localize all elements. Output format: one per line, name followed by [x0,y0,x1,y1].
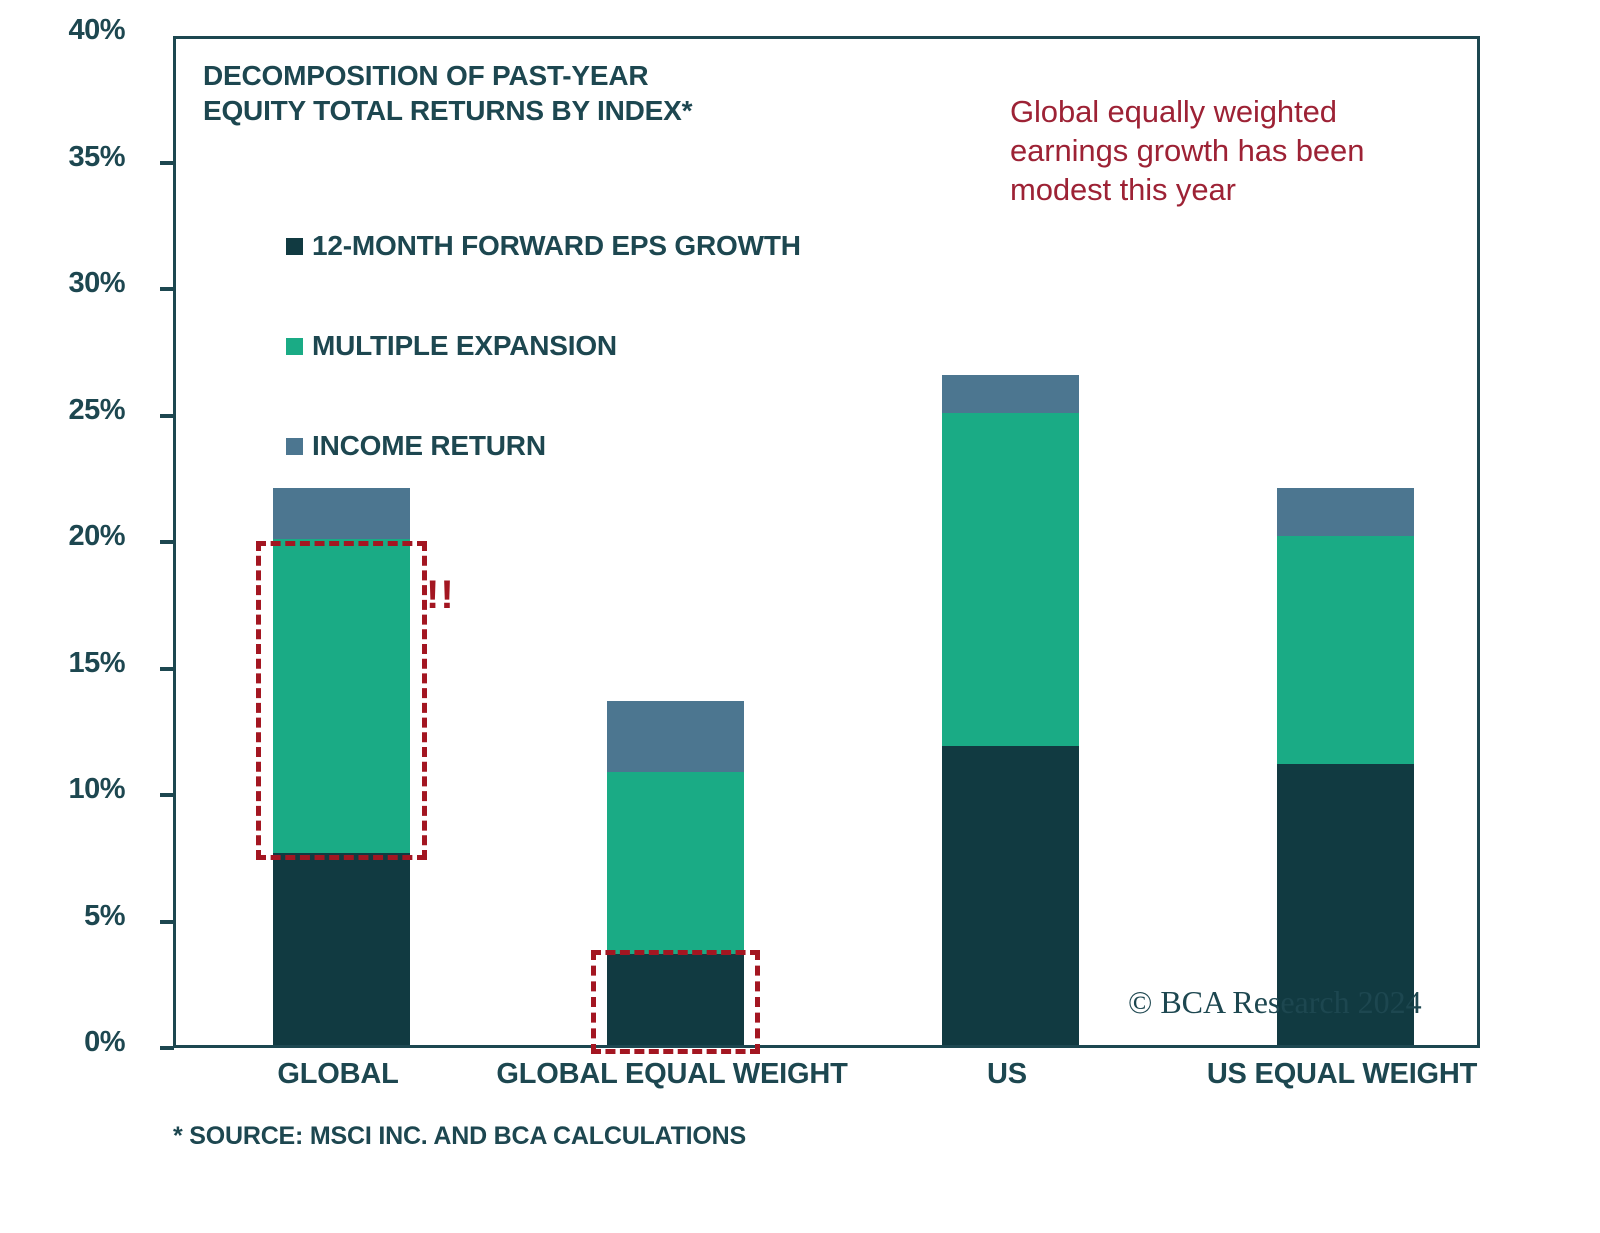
x-axis-label-global-equal-weight: GLOBAL EQUAL WEIGHT [496,1058,847,1091]
bar-global-equal-weight[interactable] [607,701,744,1045]
legend-item-income-return[interactable]: INCOME RETURN [286,396,801,496]
bar-segment-income-return[interactable] [273,488,410,539]
bar-segment-multiple-expansion[interactable] [942,413,1079,747]
legend-swatch-eps-growth [286,238,303,255]
chart-legend: 12-MONTH FORWARD EPS GROWTH MULTIPLE EXP… [286,196,801,496]
plot-area: DECOMPOSITION OF PAST-YEAR EQUITY TOTAL … [173,36,1480,1048]
y-axis-tick-label: 35% [68,141,125,174]
y-axis-tick-mark [160,1046,174,1050]
y-axis-tick-mark [160,920,174,924]
x-axis-label-us: US [987,1058,1027,1091]
bar-us[interactable] [942,375,1079,1045]
legend-swatch-income-return [286,438,303,455]
bar-segment-multiple-expansion[interactable] [1277,536,1414,764]
bar-segment-multiple-expansion[interactable] [607,772,744,954]
legend-item-eps-growth[interactable]: 12-MONTH FORWARD EPS GROWTH [286,196,801,296]
y-axis-tick-label: 0% [84,1026,125,1059]
y-axis-tick-mark [160,414,174,418]
y-axis-tick-label: 40% [68,14,125,47]
y-axis-tick-mark [160,287,174,291]
bar-global[interactable] [273,488,410,1045]
bar-segment-income-return[interactable] [607,701,744,772]
chart-canvas: 40%35%30%25%20%15%10%5%0% DECOMPOSITION … [0,0,1600,1233]
legend-label-income-return: INCOME RETURN [312,430,546,462]
legend-label-multiple-expansion: MULTIPLE EXPANSION [312,330,617,362]
copyright-watermark: © BCΑ Research 2024 [1128,984,1422,1021]
bar-segment-multiple-expansion[interactable] [273,539,410,853]
bar-segment-12-month-forward-eps-growth[interactable] [942,746,1079,1045]
bar-segment-income-return[interactable] [942,375,1079,413]
callout-line-3: modest this year [1010,170,1430,209]
callout-line-2: earnings growth has been [1010,131,1430,170]
y-axis-tick-label: 15% [68,647,125,680]
y-axis-tick-mark [160,667,174,671]
bar-segment-12-month-forward-eps-growth[interactable] [273,853,410,1045]
chart-title-line-1: DECOMPOSITION OF PAST-YEAR [203,59,692,94]
chart-title-line-2: EQUITY TOTAL RETURNS BY INDEX* [203,94,692,129]
y-axis-tick-label: 30% [68,267,125,300]
bar-us-equal-weight[interactable] [1277,488,1414,1045]
y-axis-tick-label: 25% [68,394,125,427]
x-axis-label-us-equal-weight: US EQUAL WEIGHT [1207,1058,1477,1091]
legend-swatch-multiple-expansion [286,338,303,355]
source-note: * SOURCE: MSCI INC. AND BCA CALCULATIONS [173,1122,746,1151]
bar-segment-12-month-forward-eps-growth[interactable] [607,954,744,1045]
x-axis-label-global: GLOBAL [277,1058,398,1091]
callout-annotation: Global equally weighted earnings growth … [1010,92,1430,209]
y-axis-tick-label: 10% [68,773,125,806]
legend-label-eps-growth: 12-MONTH FORWARD EPS GROWTH [312,230,801,262]
y-axis-tick-label: 20% [68,520,125,553]
bar-segment-income-return[interactable] [1277,488,1414,536]
y-axis-tick-mark [160,793,174,797]
y-axis-tick-mark [160,161,174,165]
y-axis-tick-mark [160,540,174,544]
y-axis-tick-label: 5% [84,900,125,933]
chart-title: DECOMPOSITION OF PAST-YEAR EQUITY TOTAL … [203,59,692,128]
callout-line-1: Global equally weighted [1010,92,1430,131]
legend-item-multiple-expansion[interactable]: MULTIPLE EXPANSION [286,296,801,396]
double-exclamation-marker: !! [426,575,455,615]
